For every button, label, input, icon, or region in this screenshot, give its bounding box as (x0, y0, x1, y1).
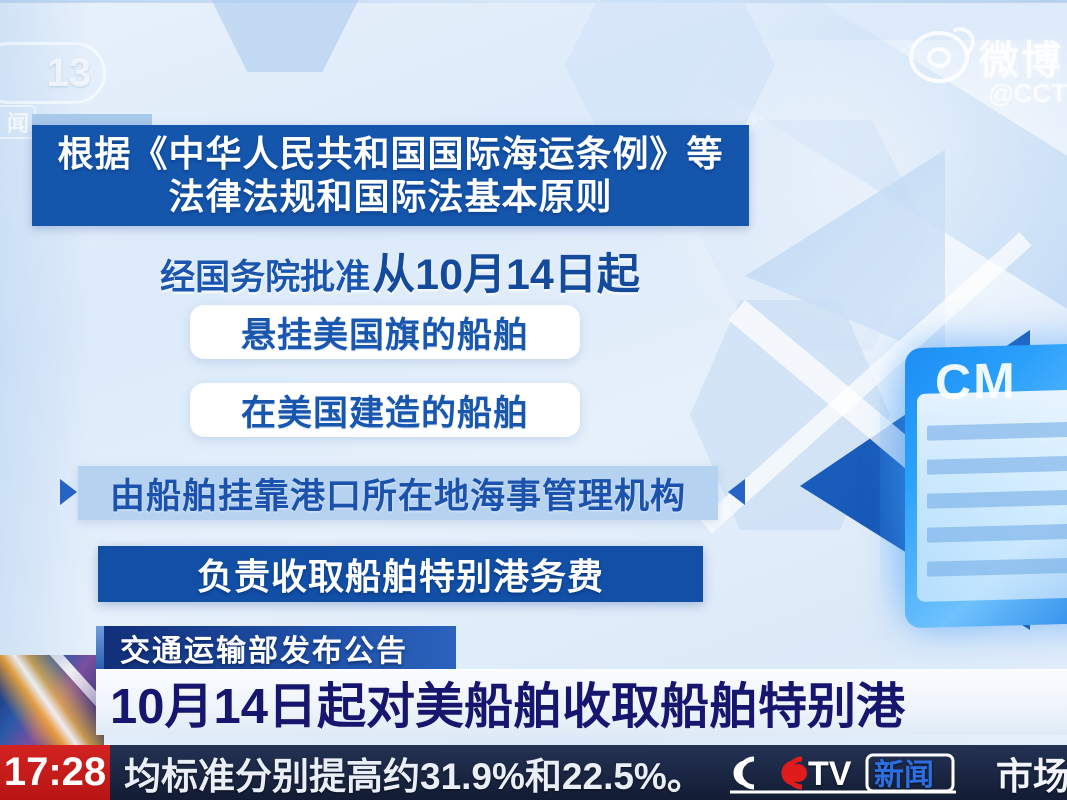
ticker-clock-value: 17:28 (4, 750, 106, 795)
quote-line-2: 法律法规和国际法基本原则 (168, 176, 612, 218)
duty-band: 负责收取船舶特别港务费 (98, 546, 703, 602)
weibo-signal-arc-icon (942, 24, 979, 61)
cctv-news-logo: TV 新闻 (724, 751, 976, 795)
document-card-label: CM (935, 351, 1017, 411)
lower-third-headline: 10月14日起对美船舶收取船舶特别港 (96, 669, 1067, 735)
criterion-pill-label: 在美国建造的船舶 (241, 385, 529, 436)
document-card-graphic: CM (905, 342, 1067, 629)
weibo-eye-icon (909, 31, 969, 83)
approval-line: 经国务院批准 从10月14日起 (130, 240, 670, 302)
triangle-left-icon (728, 479, 745, 505)
ticker-tail-text: 市场监管 (996, 746, 1067, 800)
duty-band-label: 负责收取船舶特别港务费 (197, 548, 604, 600)
hexagon-shape-top (210, 0, 360, 72)
lower-third-headline-label: 10月14日起对美船舶收取船舶特别港 (110, 669, 905, 735)
authority-band-label: 由船舶挂靠港口所在地海事管理机构 (110, 468, 686, 519)
ticker-content: 均标准分别提高约31.9%和22.5%。 TV 新闻 市场监管 (110, 746, 1067, 800)
broadcast-screen: CM 13 闻 微博 @CCT 根据《中华人民共和国国际海运条例》等 法律法规和… (0, 0, 1067, 800)
criterion-pill-label: 悬挂美国旗的船舶 (241, 307, 529, 358)
lower-third-kicker-label: 交通运输部发布公告 (120, 626, 408, 670)
weibo-handle: @CCT (988, 78, 1067, 109)
quote-line-1: 根据《中华人民共和国国际海运条例》等 (57, 133, 723, 175)
approval-segment-2: 从10月14日起 (372, 240, 640, 302)
top-edge-line (0, 0, 1067, 3)
quote-block: 根据《中华人民共和国国际海运条例》等 法律法规和国际法基本原则 (32, 125, 749, 226)
criterion-pill-flag: 悬挂美国旗的船舶 (190, 305, 580, 359)
triangle-right-icon (60, 479, 77, 505)
cctv-news-cn-label: 新闻 (874, 759, 934, 792)
svg-text:TV: TV (808, 755, 852, 793)
channel-bug-sub: 闻 (0, 105, 36, 139)
authority-band: 由船舶挂靠港口所在地海事管理机构 (78, 466, 718, 520)
ticker-clock: 17:28 (0, 745, 110, 800)
channel-bug: 13 (0, 42, 106, 104)
criterion-pill-built: 在美国建造的船舶 (190, 383, 580, 437)
channel-number: 13 (47, 51, 92, 96)
lower-third-kicker: 交通运输部发布公告 (104, 626, 456, 669)
channel-sub-label: 闻 (7, 106, 29, 138)
lower-third-left-artwork (0, 655, 104, 745)
approval-segment-1: 经国务院批准 (160, 249, 370, 300)
ticker-scroll-text: 均标准分别提高约31.9%和22.5%。 (124, 746, 704, 800)
news-ticker: 17:28 均标准分别提高约31.9%和22.5%。 TV 新闻 市场监管 (0, 745, 1067, 800)
cctv-logo-svg: TV 新闻 (724, 751, 976, 795)
